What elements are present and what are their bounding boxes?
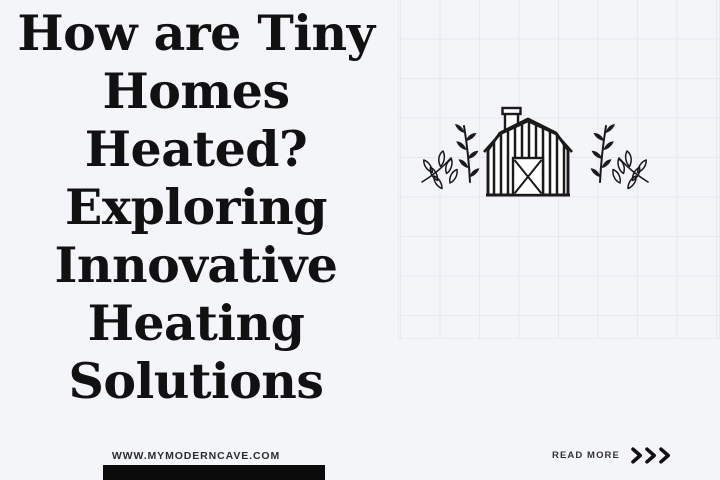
read-more-label: READ MORE bbox=[552, 450, 620, 461]
page-title: How are Tiny Homes Heated? Exploring Inn… bbox=[0, 4, 392, 410]
website-url: WWW.MYMODERNCAVE.COM bbox=[0, 450, 392, 462]
title-line-3: Heated? bbox=[0, 120, 392, 178]
triple-chevron-right-icon bbox=[631, 447, 677, 464]
barn-figure bbox=[484, 108, 572, 197]
footer-accent-bar bbox=[103, 465, 325, 480]
title-line-1: How are Tiny bbox=[0, 4, 392, 62]
read-more-button[interactable]: READ MORE bbox=[552, 447, 677, 464]
title-line-4: Exploring bbox=[0, 178, 392, 236]
x-braced-door bbox=[513, 158, 543, 195]
left-leaf-branches bbox=[422, 124, 479, 189]
title-line-6: Heating bbox=[0, 294, 392, 352]
barn-with-branches-illustration bbox=[410, 100, 660, 235]
title-line-7: Solutions bbox=[0, 352, 392, 410]
right-leaf-branches bbox=[591, 124, 648, 189]
title-line-5: Innovative bbox=[0, 236, 392, 294]
hero-card: How are Tiny Homes Heated? Exploring Inn… bbox=[0, 0, 720, 480]
title-line-2: Homes bbox=[0, 62, 392, 120]
